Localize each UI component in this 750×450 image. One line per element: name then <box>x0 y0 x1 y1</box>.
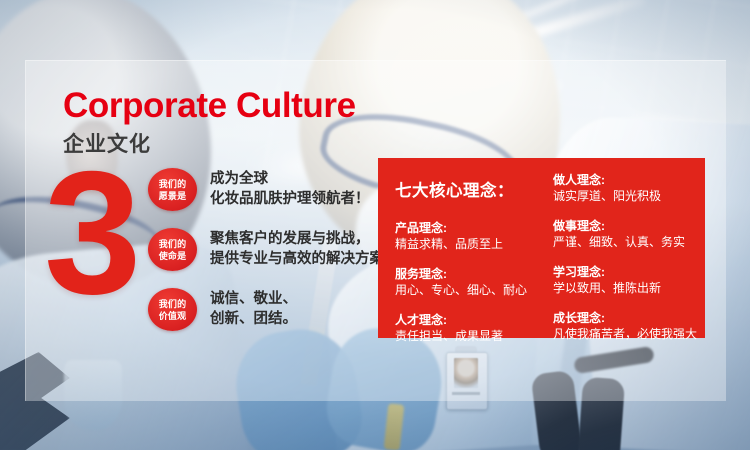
core-value-key: 做事理念: <box>553 218 708 234</box>
badge-values: 我们的 价值观 <box>148 288 197 331</box>
core-value-text: 严谨、细致、认真、务实 <box>553 234 708 251</box>
core-value-key: 服务理念: <box>395 266 550 282</box>
badge-line-2: 价值观 <box>159 310 187 322</box>
principle-text-line-2: 创新、团结。 <box>210 309 398 329</box>
core-value-text: 责任担当、成果显著 <box>395 328 550 345</box>
core-value-key: 做人理念: <box>553 172 708 188</box>
badge-vision: 我们的 愿景是 <box>148 168 197 211</box>
core-value-key: 学习理念: <box>553 264 708 280</box>
badge-line-1: 我们的 <box>159 178 187 190</box>
badge-line-1: 我们的 <box>159 298 187 310</box>
title-english: Corporate Culture <box>63 88 356 123</box>
core-value-text: 用心、专心、细心、耐心 <box>395 282 550 299</box>
core-value-item: 成长理念: 凡使我痛苦者，必使我强大 <box>553 310 708 343</box>
core-value-key: 产品理念: <box>395 220 550 236</box>
principle-text-line-2: 化妆品肌肤护理领航者！ <box>210 189 398 209</box>
core-value-key: 人才理念: <box>395 312 550 328</box>
core-value-item: 产品理念: 精益求精、品质至上 <box>395 220 550 253</box>
core-value-item: 人才理念: 责任担当、成果显著 <box>395 312 550 345</box>
banner-stage: Corporate Culture 企业文化 3 我们的 愿景是 成为全球 化妆… <box>0 0 750 450</box>
core-values-panel: 七大核心理念： 产品理念: 精益求精、品质至上 服务理念: 用心、专心、细心、耐… <box>378 158 705 338</box>
core-value-text: 精益求精、品质至上 <box>395 236 550 253</box>
list-item: 我们的 价值观 诚信、敬业、 创新、团结。 <box>148 288 398 335</box>
core-value-item: 做事理念: 严谨、细致、认真、务实 <box>553 218 708 251</box>
list-item: 我们的 愿景是 成为全球 化妆品肌肤护理领航者！ <box>148 168 398 215</box>
core-values-title: 七大核心理念： <box>395 177 514 201</box>
badge-line-2: 使命是 <box>159 250 187 262</box>
principle-text-line-1: 成为全球 <box>210 169 398 189</box>
core-values-right-column: 做人理念: 诚实厚道、阳光积极 做事理念: 严谨、细致、认真、务实 学习理念: … <box>553 172 708 356</box>
list-item: 我们的 使命是 聚焦客户的发展与挑战， 提供专业与高效的解决方案 <box>148 228 398 275</box>
core-value-item: 做人理念: 诚实厚道、阳光积极 <box>553 172 708 205</box>
principles-list: 我们的 愿景是 成为全球 化妆品肌肤护理领航者！ 我们的 使命是 聚焦客户的发展… <box>148 168 398 348</box>
principle-text: 成为全球 化妆品肌肤护理领航者！ <box>210 168 398 209</box>
core-value-text: 学以致用、推陈出新 <box>553 280 708 297</box>
principle-text-line-2: 提供专业与高效的解决方案 <box>210 249 398 269</box>
principle-text: 聚焦客户的发展与挑战， 提供专业与高效的解决方案 <box>210 228 398 269</box>
principle-text: 诚信、敬业、 创新、团结。 <box>210 288 398 329</box>
core-value-text: 诚实厚道、阳光积极 <box>553 188 708 205</box>
badge-line-1: 我们的 <box>159 238 187 250</box>
section-number: 3 <box>44 146 135 321</box>
badge-mission: 我们的 使命是 <box>148 228 197 271</box>
core-value-item: 学习理念: 学以致用、推陈出新 <box>553 264 708 297</box>
principle-text-line-1: 聚焦客户的发展与挑战， <box>210 229 398 249</box>
principle-text-line-1: 诚信、敬业、 <box>210 289 398 309</box>
core-value-item: 服务理念: 用心、专心、细心、耐心 <box>395 266 550 299</box>
core-value-key: 成长理念: <box>553 310 708 326</box>
core-value-text: 凡使我痛苦者，必使我强大 <box>553 326 708 343</box>
badge-line-2: 愿景是 <box>159 190 187 202</box>
core-values-left-column: 产品理念: 精益求精、品质至上 服务理念: 用心、专心、细心、耐心 人才理念: … <box>395 220 550 358</box>
